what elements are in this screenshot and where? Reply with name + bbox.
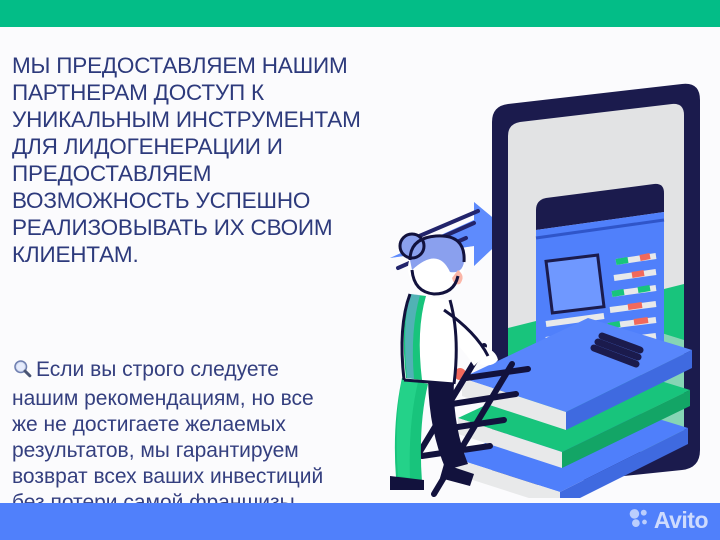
- promo-image-canvas: МЫ ПРЕДОСТАВЛЯЕМ НАШИМ ПАРТНЕРАМ ДОСТУП …: [0, 0, 720, 540]
- avito-watermark: Avito: [628, 507, 708, 534]
- top-accent-band: [0, 0, 720, 27]
- magnifying-glass-icon: [12, 332, 33, 386]
- avito-watermark-label: Avito: [654, 509, 708, 532]
- headline-text: МЫ ПРЕДОСТАВЛЯЕМ НАШИМ ПАРТНЕРАМ ДОСТУП …: [12, 52, 432, 268]
- avito-logo-icon: [628, 507, 650, 534]
- body-paragraph: Если вы строго следуете нашим рекомендац…: [12, 306, 404, 516]
- illustration: [388, 78, 720, 498]
- body-paragraph-text: Если вы строго следуете нашим рекомендац…: [12, 358, 323, 514]
- bottom-accent-band: [0, 503, 720, 540]
